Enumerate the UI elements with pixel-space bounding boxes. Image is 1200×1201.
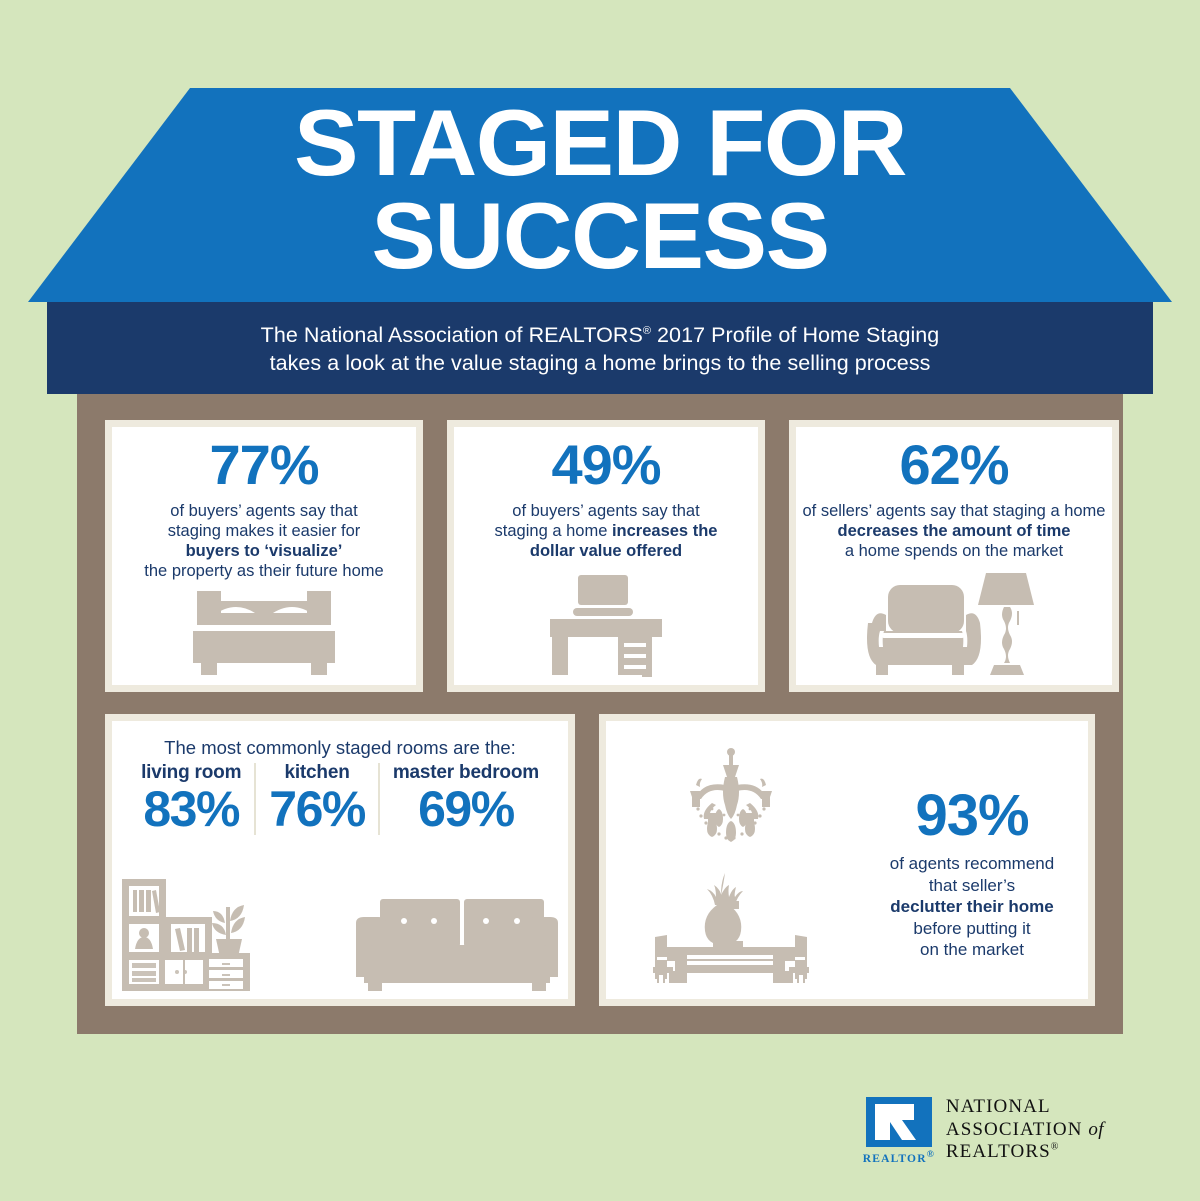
stats-row-top: 77% of buyers’ agents say that staging m… (105, 420, 1095, 692)
stat-card-visualize: 77% of buyers’ agents say that staging m… (105, 420, 423, 692)
stat-percent-49: 49% (551, 437, 660, 493)
time-line-2-bold: decreases the amount of time (838, 522, 1071, 540)
dollar-line-1: of buyers’ agents say that (512, 502, 699, 520)
room-item-living-room: living room 83% (128, 763, 254, 835)
desk-icon (546, 575, 666, 677)
room-percent-living-room: 83% (143, 784, 239, 835)
stat-text-dollar-value: of buyers’ agents say that staging a hom… (491, 501, 722, 561)
realtor-block-icon (866, 1097, 932, 1147)
room-item-master-bedroom: master bedroom 69% (378, 763, 552, 835)
roof-shape: STAGED FOR SUCCESS (28, 88, 1172, 302)
stat-card-time-on-market: 62% of sellers’ agents say that staging … (789, 420, 1119, 692)
armchair-lamp-icon (864, 571, 1044, 677)
realtor-registered-icon: ® (927, 1149, 935, 1160)
stat-card-dollar-value: 49% of buyers’ agents say that staging a… (447, 420, 765, 692)
rooms-icons-wrap (112, 835, 568, 999)
logo-line-2-wrap: ASSOCIATION of (946, 1119, 1104, 1141)
declutter-line-3-bold: declutter their home (890, 897, 1053, 916)
banner-line-1-post: 2017 Profile of Home Staging (651, 323, 939, 347)
dollar-line-3-bold: dollar value offered (530, 542, 682, 560)
armchair-lamp-icon-wrap (796, 561, 1112, 685)
logo-registered-icon: ® (1051, 1141, 1060, 1152)
nar-logo: REALTOR® NATIONAL ASSOCIATION of REALTOR… (866, 1096, 1104, 1163)
declutter-line-2: that seller’s (929, 876, 1015, 895)
visualize-line-4: the property as their future home (144, 562, 383, 580)
declutter-line-1: of agents recommend (890, 854, 1054, 873)
bed-icon-wrap (112, 582, 416, 686)
house-body: 77% of buyers’ agents say that staging m… (77, 394, 1123, 1034)
logo-line-2: ASSOCIATION (946, 1119, 1083, 1140)
banner-line-2: takes a look at the value staging a home… (270, 349, 931, 377)
dining-table-vase-icon (651, 871, 811, 983)
rooms-grid: living room 83% kitchen 76% master bedro… (112, 763, 568, 835)
time-line-1: of sellers’ agents say that staging a ho… (803, 502, 1106, 520)
page-title: STAGED FOR SUCCESS (11, 96, 1189, 282)
stat-text-time-on-market: of sellers’ agents say that staging a ho… (799, 501, 1110, 561)
visualize-line-2: staging makes it easier for (168, 522, 361, 540)
logo-line-3-wrap: REALTORS® (946, 1141, 1104, 1163)
logo-line-3: REALTORS (946, 1141, 1051, 1162)
declutter-line-4: before putting it (913, 919, 1030, 938)
room-percent-kitchen: 76% (269, 784, 365, 835)
infographic-root: STAGED FOR SUCCESS The National Associat… (0, 0, 1200, 1201)
visualize-line-1: of buyers’ agents say that (170, 502, 357, 520)
nar-logo-text: NATIONAL ASSOCIATION of REALTORS® (946, 1096, 1104, 1163)
stat-percent-93: 93% (915, 787, 1028, 845)
visualize-line-3: buyers to ‘visualize’ (186, 542, 343, 560)
stats-row-bottom: The most commonly staged rooms are the: … (105, 714, 1095, 1006)
banner-line-1-pre: The National Association of REALTORS (261, 323, 643, 347)
logo-line-1: NATIONAL (946, 1096, 1104, 1118)
declutter-text-wrap: 93% of agents recommend that seller’s de… (856, 759, 1088, 960)
room-item-kitchen: kitchen 76% (254, 763, 378, 835)
realtor-wordmark: REALTOR® (863, 1149, 935, 1165)
stat-card-declutter: 93% of agents recommend that seller’s de… (599, 714, 1095, 1006)
bed-icon (189, 589, 339, 677)
time-line-3: a home spends on the market (845, 542, 1063, 560)
chandelier-icon (672, 747, 790, 855)
bookshelf-plant-icon (120, 877, 252, 993)
dollar-line-2-bold: increases the (612, 522, 717, 540)
room-percent-master-bedroom: 69% (418, 784, 514, 835)
realtor-r-icon (866, 1097, 932, 1147)
stat-text-declutter: of agents recommend that seller’s declut… (886, 853, 1058, 960)
logo-line-2-of: of (1088, 1119, 1104, 1140)
stat-text-visualize: of buyers’ agents say that staging makes… (140, 501, 387, 582)
subtitle-banner: The National Association of REALTORS® 20… (47, 302, 1153, 394)
realtor-text: REALTOR (863, 1153, 927, 1165)
stat-percent-62: 62% (899, 437, 1008, 493)
title-line-1: STAGED FOR (294, 90, 906, 195)
stat-card-rooms: The most commonly staged rooms are the: … (105, 714, 575, 1006)
sofa-icon (354, 897, 560, 993)
realtor-mark-icon: REALTOR® (866, 1097, 932, 1163)
title-line-2: SUCCESS (11, 189, 1189, 282)
desk-icon-wrap (454, 561, 758, 685)
banner-line-1: The National Association of REALTORS® 20… (261, 321, 940, 349)
declutter-line-5: on the market (920, 940, 1024, 959)
stat-percent-77: 77% (209, 437, 318, 493)
dollar-line-2-pre: staging a home (495, 522, 612, 540)
rooms-heading: The most commonly staged rooms are the: (164, 737, 516, 759)
declutter-icons-wrap (606, 737, 856, 983)
registered-mark-icon: ® (643, 324, 651, 336)
